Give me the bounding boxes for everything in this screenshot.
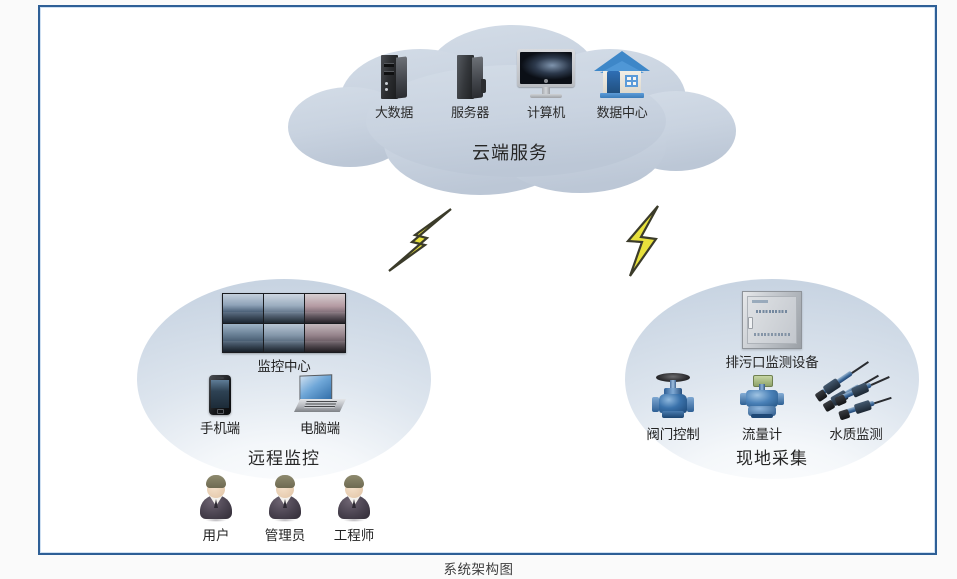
role-label: 工程师 xyxy=(323,524,385,544)
wireless-link-right xyxy=(612,203,674,283)
cloud-node-label: 数据中心 xyxy=(586,102,658,121)
lightning-bolt-icon xyxy=(612,203,674,279)
person-icon xyxy=(196,475,236,523)
node-label: 流量计 xyxy=(727,423,797,443)
field-acquisition-zone: 排污口监测设备 阀门控制 xyxy=(625,279,919,479)
mobile-phone-icon xyxy=(189,371,251,415)
cloud-node-label: 计算机 xyxy=(510,102,582,121)
node-label: 水质监测 xyxy=(808,423,904,443)
cloud-node-big-data[interactable]: 大数据 xyxy=(358,41,430,121)
house-datacenter-icon xyxy=(586,41,658,99)
node-outfall-monitoring-equipment[interactable]: 排污口监测设备 xyxy=(692,289,852,371)
user-roles-row: 用户 管理员 工 xyxy=(185,475,385,544)
cloud-icon-row: 大数据 服务器 xyxy=(358,41,658,121)
role-administrator[interactable]: 管理员 xyxy=(254,475,316,544)
person-icon xyxy=(334,475,374,523)
person-icon xyxy=(265,475,305,523)
cloud-node-computer[interactable]: 计算机 xyxy=(510,41,582,121)
laptop-icon xyxy=(289,371,351,415)
diagram-frame: 大数据 服务器 xyxy=(38,5,937,555)
cloud-node-server[interactable]: 服务器 xyxy=(434,41,506,121)
node-flow-meter[interactable]: 流量计 xyxy=(727,371,797,443)
cloud-service-group: 大数据 服务器 xyxy=(280,15,740,205)
cloud-node-label: 大数据 xyxy=(358,102,430,121)
node-label: 手机端 xyxy=(189,417,251,437)
flow-meter-icon xyxy=(727,371,797,421)
node-mobile-client[interactable]: 手机端 xyxy=(189,371,251,437)
node-label: 电脑端 xyxy=(289,417,351,437)
figure-caption: 系统架构图 xyxy=(0,558,957,578)
control-cabinet-icon xyxy=(692,289,852,349)
right-zone-title: 现地采集 xyxy=(625,444,919,469)
video-wall-icon xyxy=(222,293,346,353)
cloud-node-label: 服务器 xyxy=(434,102,506,121)
desktop-monitor-icon xyxy=(510,41,582,99)
water-quality-probe-icon xyxy=(808,363,904,421)
node-valve-control[interactable]: 阀门控制 xyxy=(633,371,713,443)
role-label: 管理员 xyxy=(254,524,316,544)
server-tower-icon xyxy=(358,41,430,99)
gate-valve-icon xyxy=(633,371,713,421)
left-zone-title: 远程监控 xyxy=(137,444,431,469)
diagram-page: 大数据 服务器 xyxy=(0,0,957,579)
node-pc-client[interactable]: 电脑端 xyxy=(289,371,351,437)
role-label: 用户 xyxy=(185,524,247,544)
wireless-link-left xyxy=(381,205,459,279)
node-monitoring-center[interactable]: 监控中心 xyxy=(222,293,346,375)
remote-monitoring-zone: 监控中心 手机端 xyxy=(137,279,431,479)
node-label: 阀门控制 xyxy=(633,423,713,443)
cloud-title: 云端服务 xyxy=(280,139,740,165)
server-rack-icon xyxy=(434,41,506,99)
node-water-quality-monitoring[interactable]: 水质监测 xyxy=(808,363,904,443)
lightning-bolt-icon xyxy=(381,205,459,275)
role-user[interactable]: 用户 xyxy=(185,475,247,544)
cloud-node-data-center[interactable]: 数据中心 xyxy=(586,41,658,121)
role-engineer[interactable]: 工程师 xyxy=(323,475,385,544)
